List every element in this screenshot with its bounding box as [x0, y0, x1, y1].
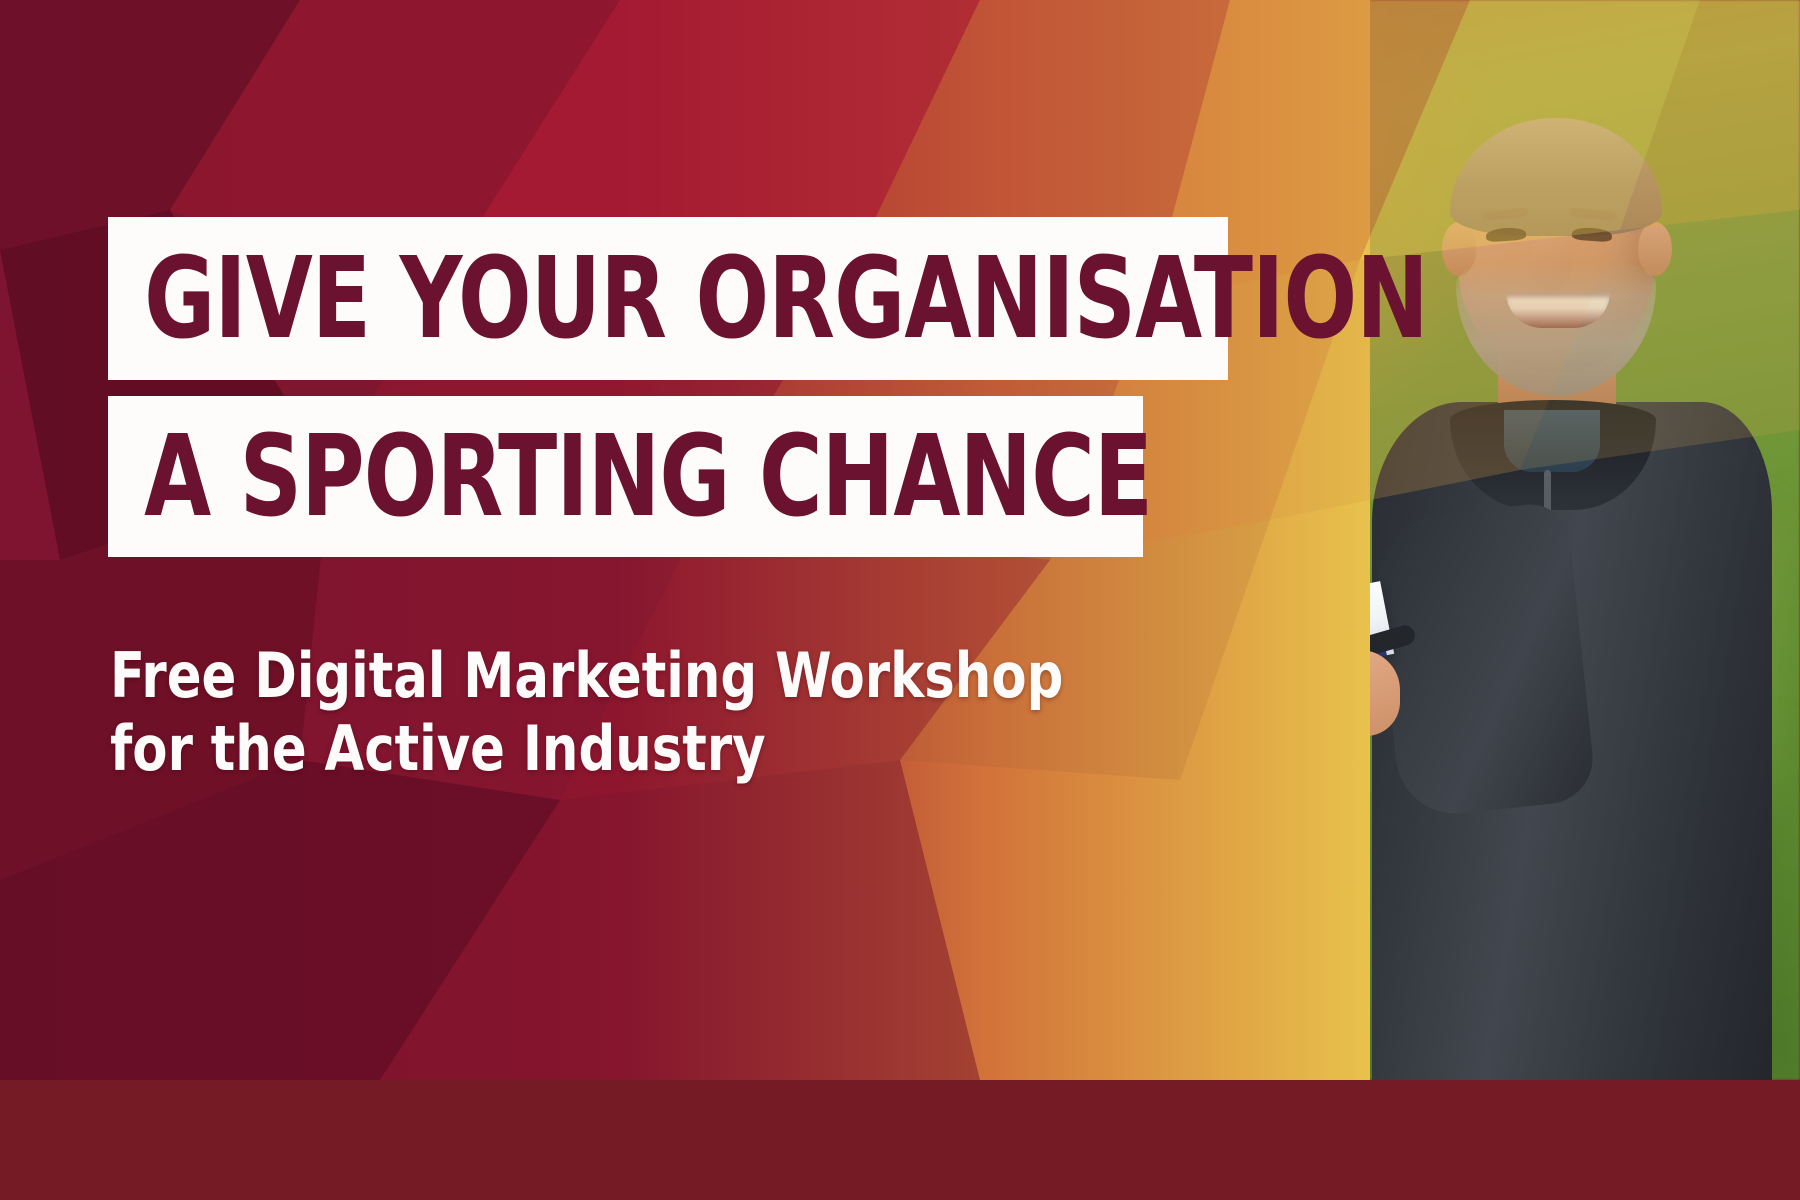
subtitle: Free Digital Marketing Workshop for the …	[110, 640, 1030, 785]
headline-box-line2: A SPORTING CHANCE	[108, 396, 1143, 557]
headline-line2: A SPORTING CHANCE	[108, 421, 1152, 533]
footer-bar	[0, 1080, 1800, 1200]
headline-line1: GIVE YOUR ORGANISATION	[108, 243, 1428, 355]
marketing-banner: GIVE YOUR ORGANISATION A SPORTING CHANCE…	[0, 0, 1800, 1200]
subtitle-line2: for the Active Industry	[110, 713, 1030, 786]
subtitle-line1: Free Digital Marketing Workshop	[110, 640, 1030, 713]
headline-box-line1: GIVE YOUR ORGANISATION	[108, 217, 1228, 380]
